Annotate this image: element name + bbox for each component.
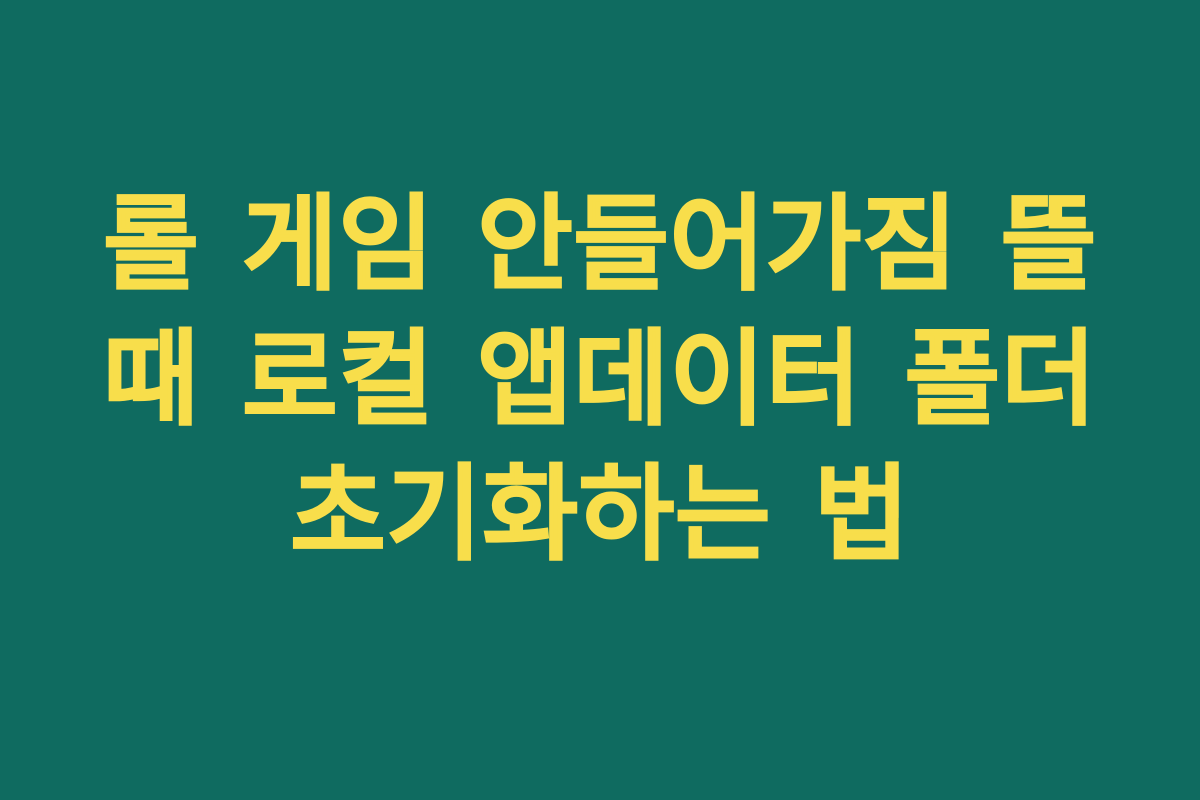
headline-line-2: 때 로컬 앱데이터 폴더 xyxy=(103,312,1097,447)
page-title: 롤 게임 안들어가짐 뜰 때 로컬 앱데이터 폴더 초기화하는 법 xyxy=(63,177,1137,582)
headline-line-1: 롤 게임 안들어가짐 뜰 xyxy=(103,177,1097,312)
title-card: 롤 게임 안들어가짐 뜰 때 로컬 앱데이터 폴더 초기화하는 법 xyxy=(0,0,1200,800)
headline-line-3: 초기화하는 법 xyxy=(103,447,1097,582)
